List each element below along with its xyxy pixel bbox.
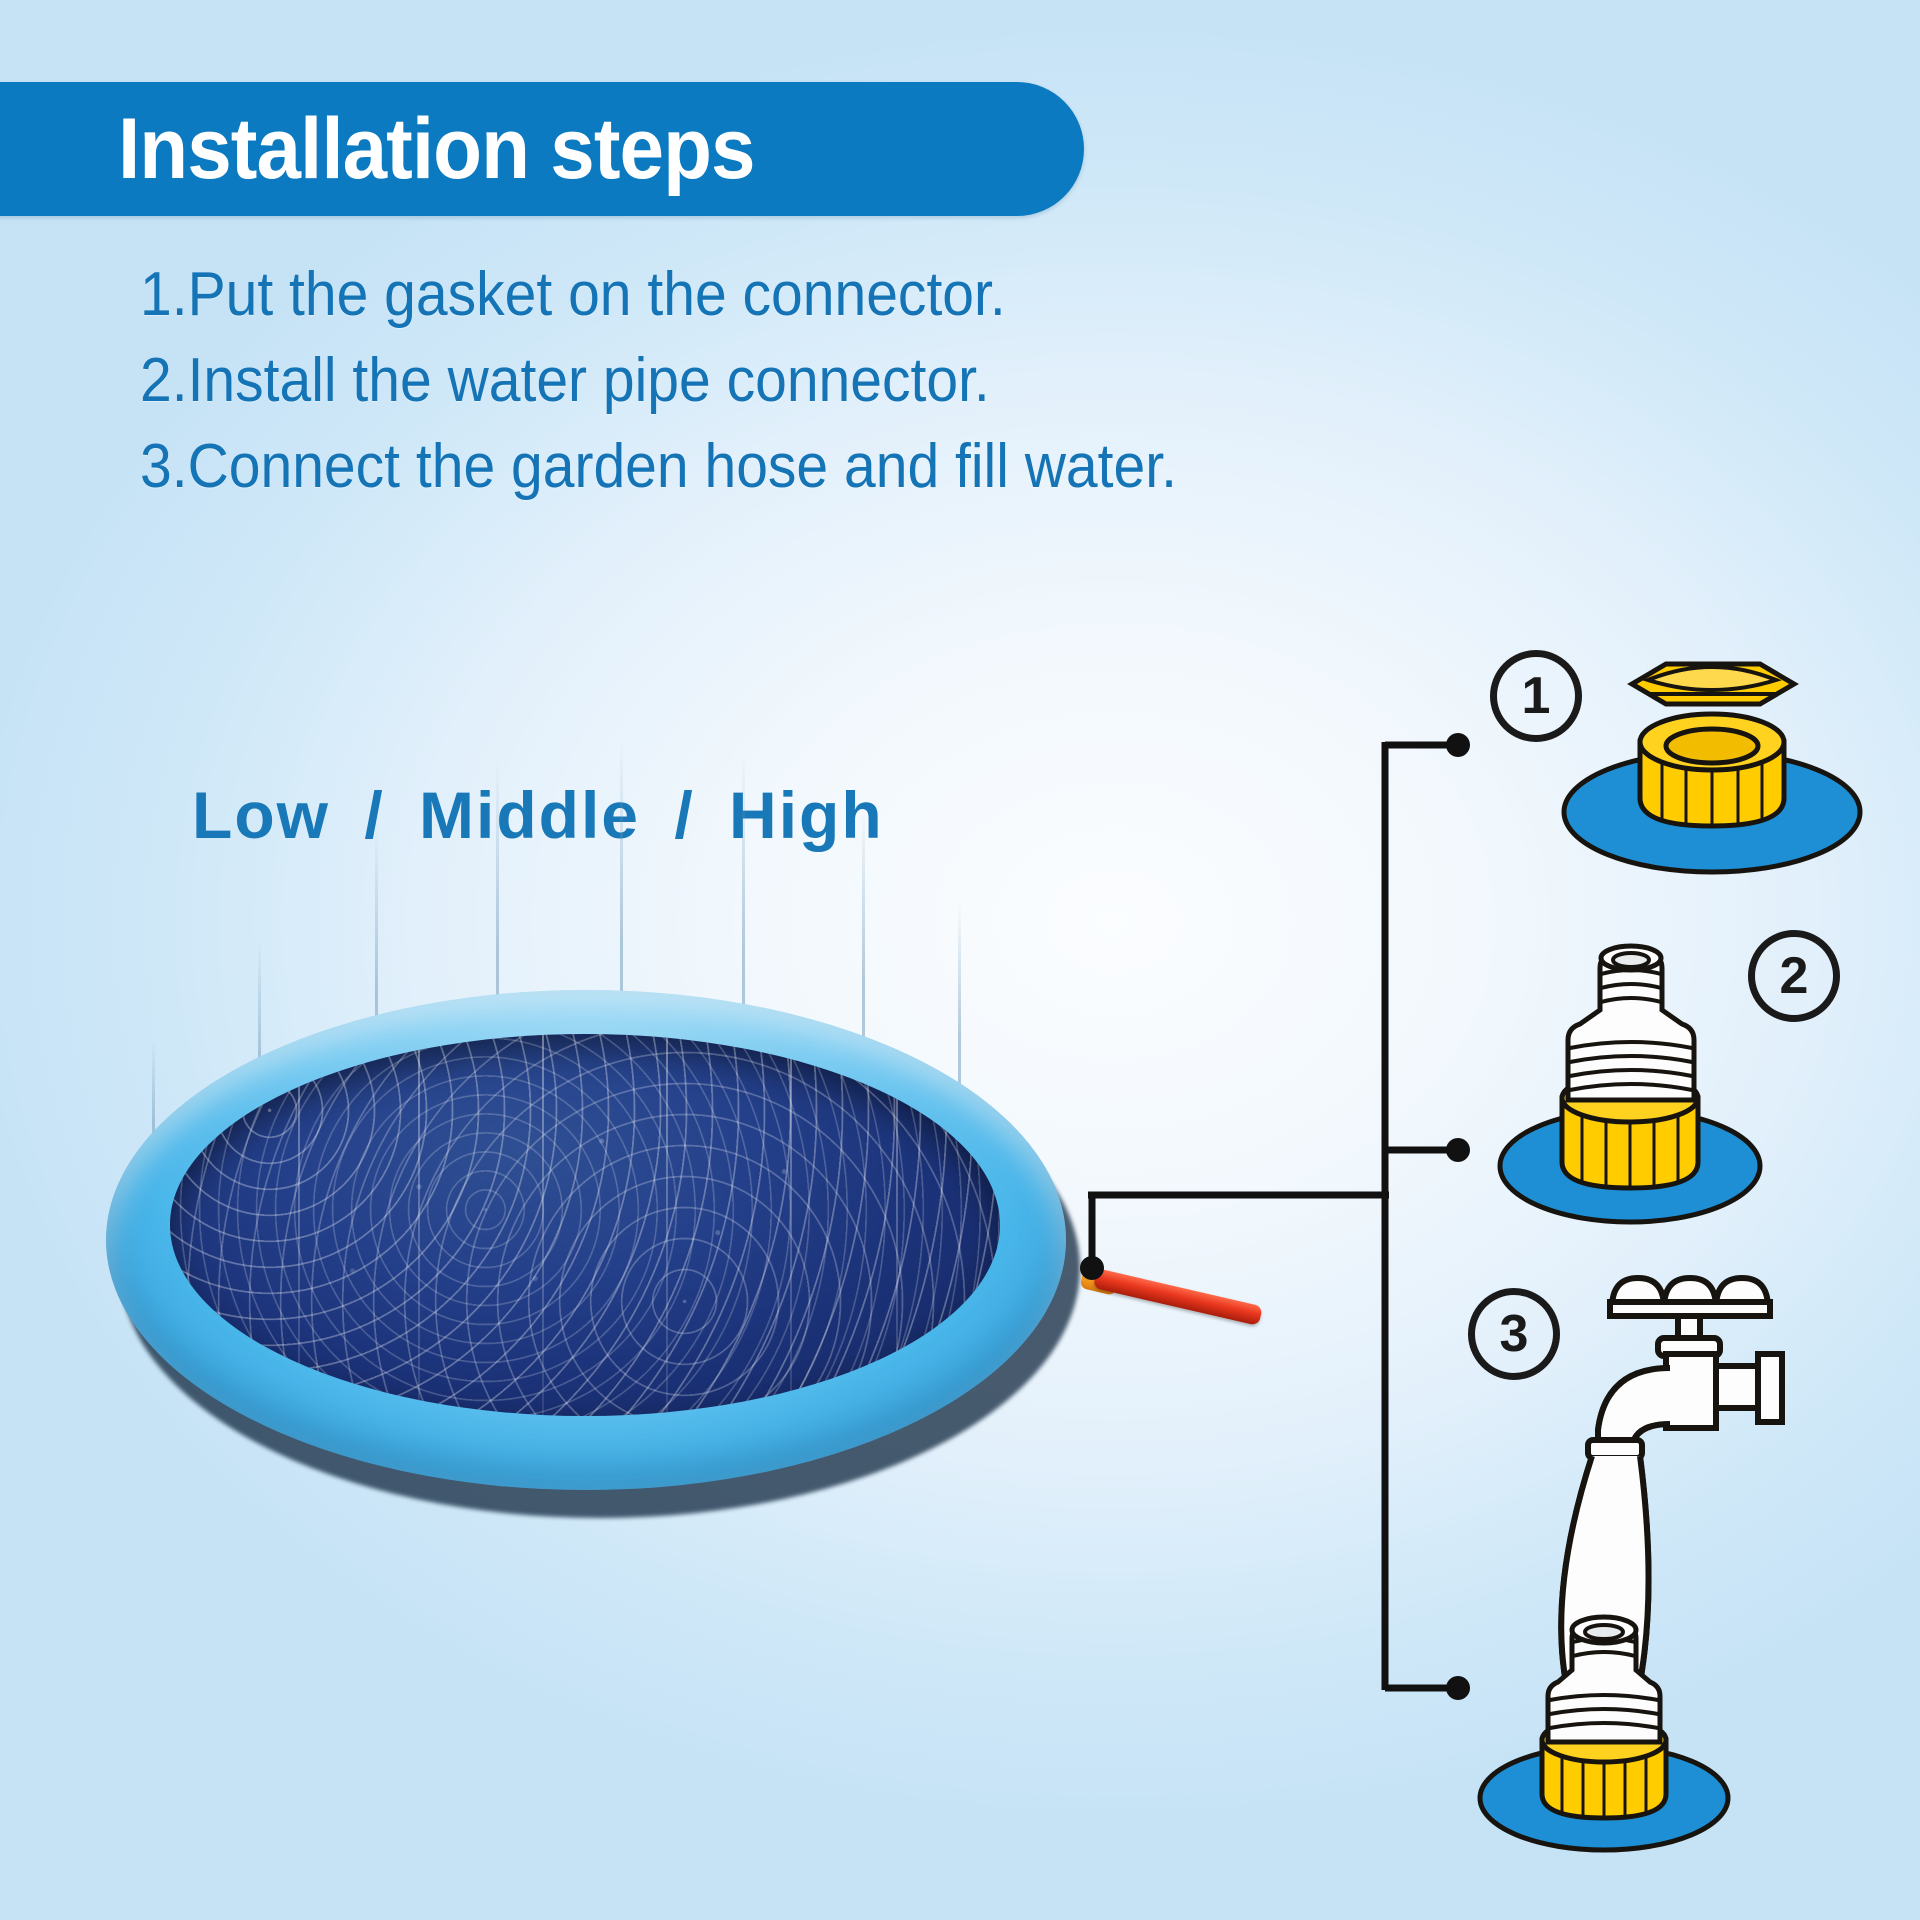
callout-3: 3 <box>1420 1250 1860 1880</box>
callout-2: 2 <box>1460 930 1880 1230</box>
callout-2-number: 2 <box>1748 930 1840 1022</box>
callout-1: 1 <box>1480 630 1880 890</box>
installation-steps-infographic: Installation steps 1.Put the gasket on t… <box>0 0 1920 1920</box>
callout-1-number: 1 <box>1490 650 1582 742</box>
callout-3-number: 3 <box>1468 1288 1560 1380</box>
